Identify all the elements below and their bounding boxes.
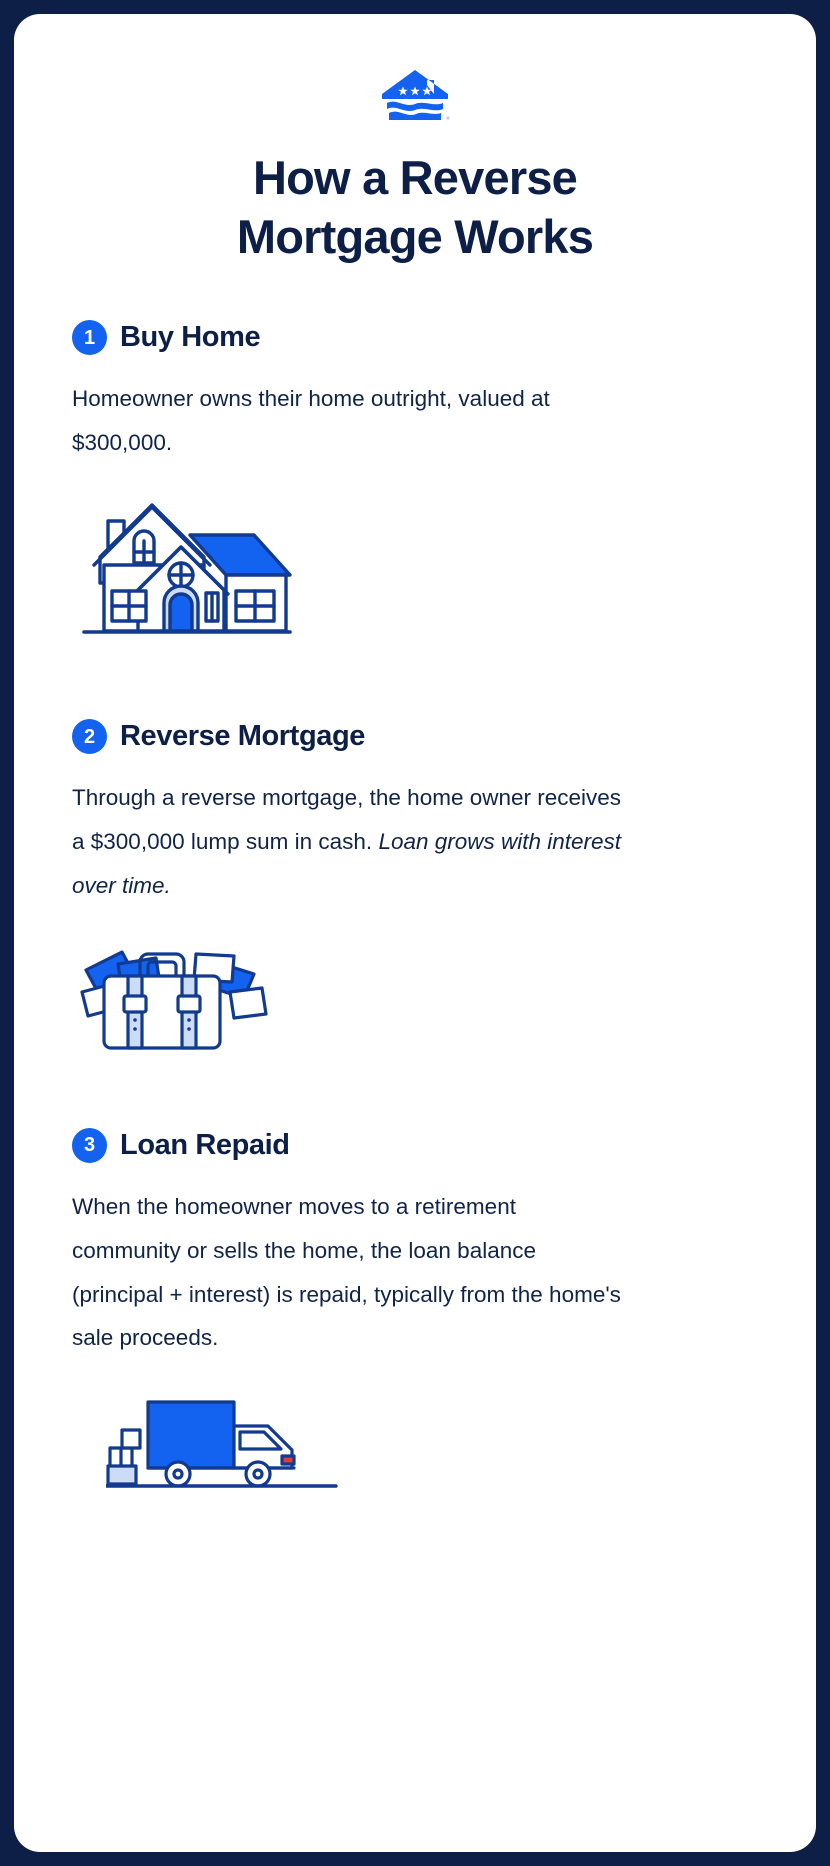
step-2-body: Through a reverse mortgage, the home own… [66,776,626,908]
money-suitcase-illustration [66,934,764,1052]
page-title: How a Reverse Mortgage Works [66,148,764,266]
infographic-frame: How a Reverse Mortgage Works 1 Buy Home … [0,0,830,1866]
page-title-line-2: Mortgage Works [66,207,764,266]
step-3-title: Loan Repaid [120,1129,290,1162]
step-3-number-badge: 3 [72,1128,107,1163]
step-1-header: 1 Buy Home [66,320,764,355]
moving-truck-illustration [66,1386,764,1498]
page-title-line-1: How a Reverse [66,148,764,207]
step-2: 2 Reverse Mortgage Through a reverse mor… [66,719,764,1052]
brand-logo [66,68,764,122]
step-1: 1 Buy Home Homeowner owns their home out… [66,320,764,643]
step-3: 3 Loan Repaid When the homeowner moves t… [66,1128,764,1499]
infographic-card: How a Reverse Mortgage Works 1 Buy Home … [14,14,816,1852]
house-flag-logo-icon [378,68,452,122]
step-1-title: Buy Home [120,321,260,354]
step-3-body: When the homeowner moves to a retirement… [66,1185,626,1361]
step-2-number-badge: 2 [72,719,107,754]
step-2-title: Reverse Mortgage [120,720,365,753]
step-1-body: Homeowner owns their home outright, valu… [66,377,626,465]
step-3-header: 3 Loan Repaid [66,1128,764,1163]
house-illustration [66,491,764,643]
step-1-number-badge: 1 [72,320,107,355]
step-2-header: 2 Reverse Mortgage [66,719,764,754]
